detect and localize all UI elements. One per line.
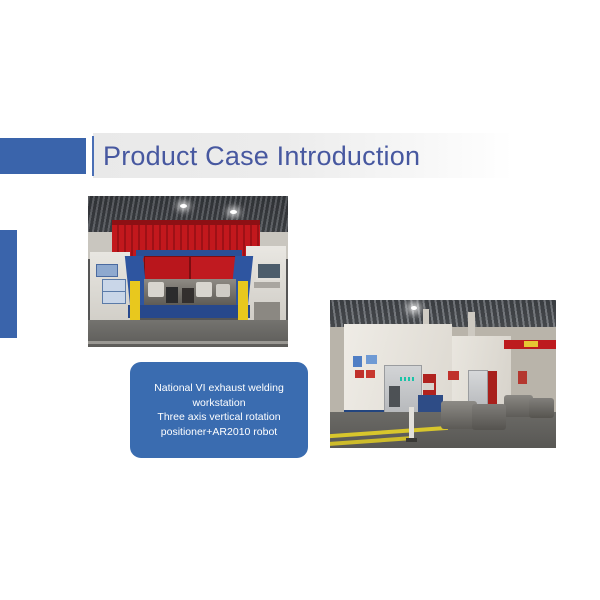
photo-bollard [409,407,414,440]
caption-line-4: positioner+AR2010 robot [154,425,284,440]
caption-line-3: Three axis vertical rotation [154,410,284,425]
photo-placard [366,355,377,364]
photo-motor [196,282,212,297]
slide-canvas: Product Case Introduction [0,0,600,600]
photo-curtain-rail [112,220,260,225]
accent-bar-horizontal [0,138,86,174]
photo-fixture [182,288,194,303]
photo-machine-base [128,305,250,319]
photo-red-panel [144,256,190,281]
photo-placard [518,371,527,384]
welding-workstation-photo [88,196,288,347]
photo-bollard-base [406,438,417,442]
photo-ceiling-lamp [180,204,187,208]
photo-hmi-screen [256,262,282,280]
photo-equipment [529,398,554,419]
photo-fixture [166,287,178,304]
photo-placard [448,371,459,380]
photo-placard [353,356,362,366]
caption-callout: National VI exhaust welding workstation … [130,362,308,458]
photo-cabinet-label [102,291,126,304]
photo-cabinet-vent [389,386,400,407]
photo-motor [148,282,164,297]
caption-text: National VI exhaust welding workstation … [146,381,292,439]
photo-banner-mark [524,341,538,347]
photo-equipment-label [423,383,434,390]
photo-control-panel [254,302,280,320]
photo-placard [355,370,364,379]
photo-floor-line [88,341,288,344]
photo-cabinet-label [102,279,126,292]
photo-red-panel [190,256,236,281]
photo-equipment [472,404,506,431]
accent-bar-vertical [0,230,17,338]
photo-motor [216,284,230,298]
factory-enclosure-photo [330,300,556,448]
photo-placard [366,370,375,379]
photo-red-equipment [488,371,497,407]
photo-cabinet-label [96,264,118,277]
photo-indicator-lights [400,377,416,381]
title-divider-rule [92,136,94,176]
caption-line-1: National VI exhaust welding [154,381,284,396]
photo-ceiling-lamp [230,210,237,214]
photo-control-strip [254,282,280,288]
page-title: Product Case Introduction [103,136,533,176]
caption-line-2: workstation [154,396,284,411]
